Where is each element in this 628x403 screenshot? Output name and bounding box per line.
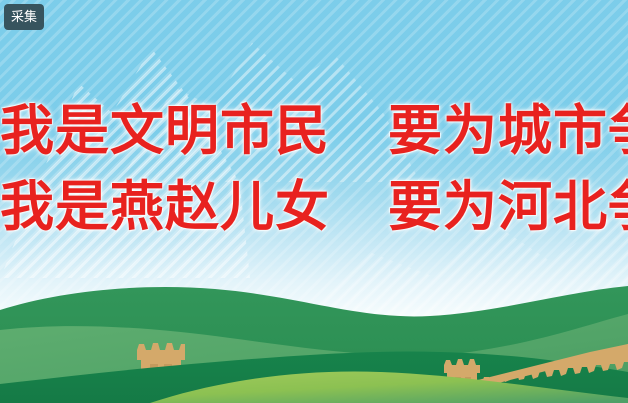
slogan-line-2-left: 我是燕赵儿女	[0, 177, 330, 237]
banner-canvas: 我是文明市民 要为城市争光 我是燕赵儿女 要为河北争气 采集	[0, 0, 628, 403]
slogan-line-2-right: 要为河北争气	[388, 177, 628, 237]
slogan-line-1-right: 要为城市争光	[388, 101, 628, 161]
slogan-line-2: 我是燕赵儿女 要为河北争气	[0, 180, 628, 234]
capture-button[interactable]: 采集	[4, 4, 44, 30]
slogan-line-1-left: 我是文明市民	[0, 101, 330, 161]
slogan-line-1: 我是文明市民 要为城市争光	[0, 104, 628, 158]
